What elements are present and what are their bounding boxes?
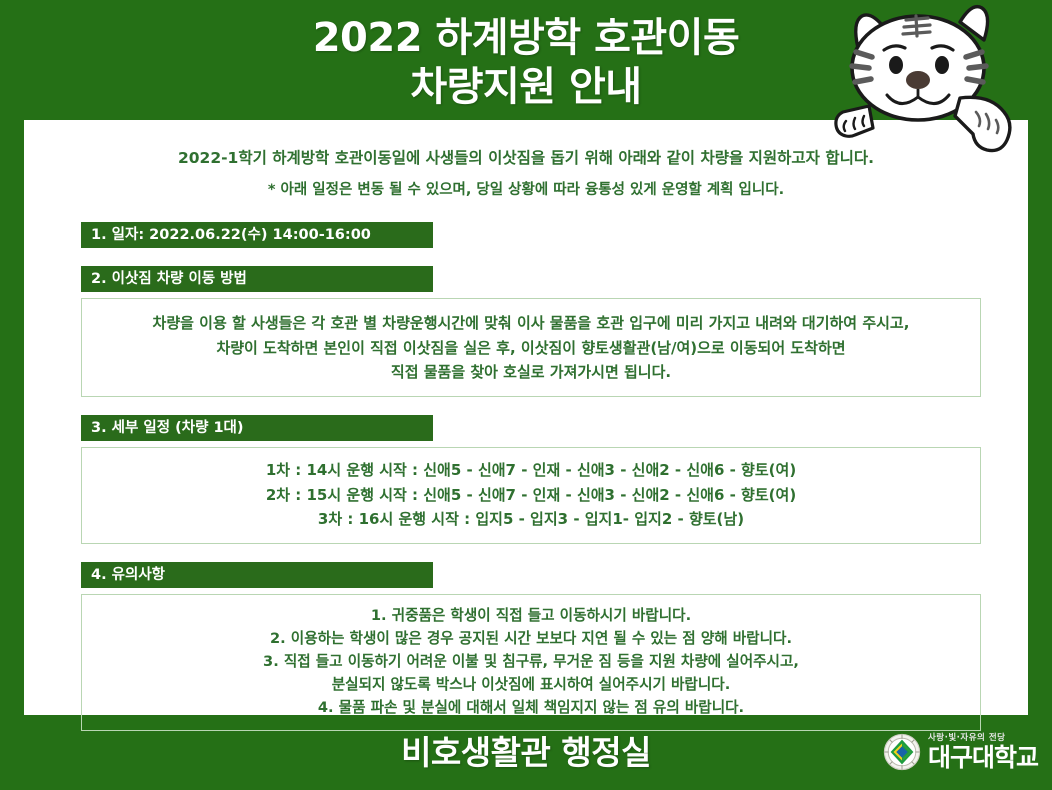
university-name: 대구대학교	[928, 745, 1038, 770]
university-wordmark: 사랑·빛·자유의 전당 대구대학교	[928, 734, 1038, 770]
section-heading-schedule: 3. 세부 일정 (차량 1대)	[81, 415, 433, 441]
method-line-2: 차량이 도착하면 본인이 직접 이삿짐을 실은 후, 이삿짐이 향토생활관(남/…	[96, 336, 966, 360]
section-heading-notes: 4. 유의사항	[81, 562, 433, 588]
title-line-1: 2022 하계방학 호관이동	[0, 14, 1052, 63]
note-item-2: 2. 이용하는 학생이 많은 경우 공지된 시간 보보다 지연 될 수 있는 점…	[96, 627, 966, 650]
section-heading-date: 1. 일자: 2022.06.22(수) 14:00-16:00	[81, 222, 433, 248]
section-body-schedule: 1차 : 14시 운행 시작 : 신애5 - 신애7 - 인재 - 신애3 - …	[81, 447, 981, 544]
title-line-2: 차량지원 안내	[0, 63, 1052, 112]
university-seal-emblem-icon	[883, 733, 921, 771]
section-body-method: 차량을 이용 할 사생들은 각 호관 별 차량운행시간에 맞춰 이사 물품을 호…	[81, 298, 981, 397]
section-heading-method: 2. 이삿짐 차량 이동 방법	[81, 266, 433, 292]
schedule-trip-3: 3차 : 16시 운행 시작 : 입지5 - 입지3 - 입지1- 입지2 - …	[96, 507, 966, 531]
note-item-1: 1. 귀중품은 학생이 직접 들고 이동하시기 바랍니다.	[96, 604, 966, 627]
section-body-notes: 1. 귀중품은 학생이 직접 들고 이동하시기 바랍니다. 2. 이용하는 학생…	[81, 594, 981, 730]
intro-text: 2022-1학기 하계방학 호관이동일에 사생들의 이삿짐을 돕기 위해 아래와…	[24, 120, 1028, 200]
page-title: 2022 하계방학 호관이동 차량지원 안내	[0, 14, 1052, 112]
university-tagline: 사랑·빛·자유의 전당	[928, 734, 1038, 743]
university-logo: 사랑·빛·자유의 전당 대구대학교	[883, 733, 1038, 771]
content-panel: 2022-1학기 하계방학 호관이동일에 사생들의 이삿짐을 돕기 위해 아래와…	[24, 120, 1028, 715]
note-item-4: 4. 물품 파손 및 분실에 대해서 일체 책임지지 않는 점 유의 바랍니다.	[96, 696, 966, 719]
method-line-1: 차량을 이용 할 사생들은 각 호관 별 차량운행시간에 맞춰 이사 물품을 호…	[96, 311, 966, 335]
schedule-trip-1: 1차 : 14시 운행 시작 : 신애5 - 신애7 - 인재 - 신애3 - …	[96, 458, 966, 482]
intro-line-2: * 아래 일정은 변동 될 수 있으며, 당일 상황에 따라 융통성 있게 운영…	[64, 181, 988, 201]
schedule-trip-2: 2차 : 15시 운행 시작 : 신애5 - 신애7 - 인재 - 신애3 - …	[96, 483, 966, 507]
note-item-3: 3. 직접 들고 이동하기 어려운 이불 및 침구류, 무거운 짐 등을 지원 …	[96, 650, 966, 673]
note-item-3-cont: 분실되지 않도록 박스나 이삿짐에 표시하여 실어주시기 바랍니다.	[96, 673, 966, 696]
intro-line-1: 2022-1학기 하계방학 호관이동일에 사생들의 이삿짐을 돕기 위해 아래와…	[178, 149, 874, 167]
method-line-3: 직접 물품을 찾아 호실로 가져가시면 됩니다.	[96, 360, 966, 384]
